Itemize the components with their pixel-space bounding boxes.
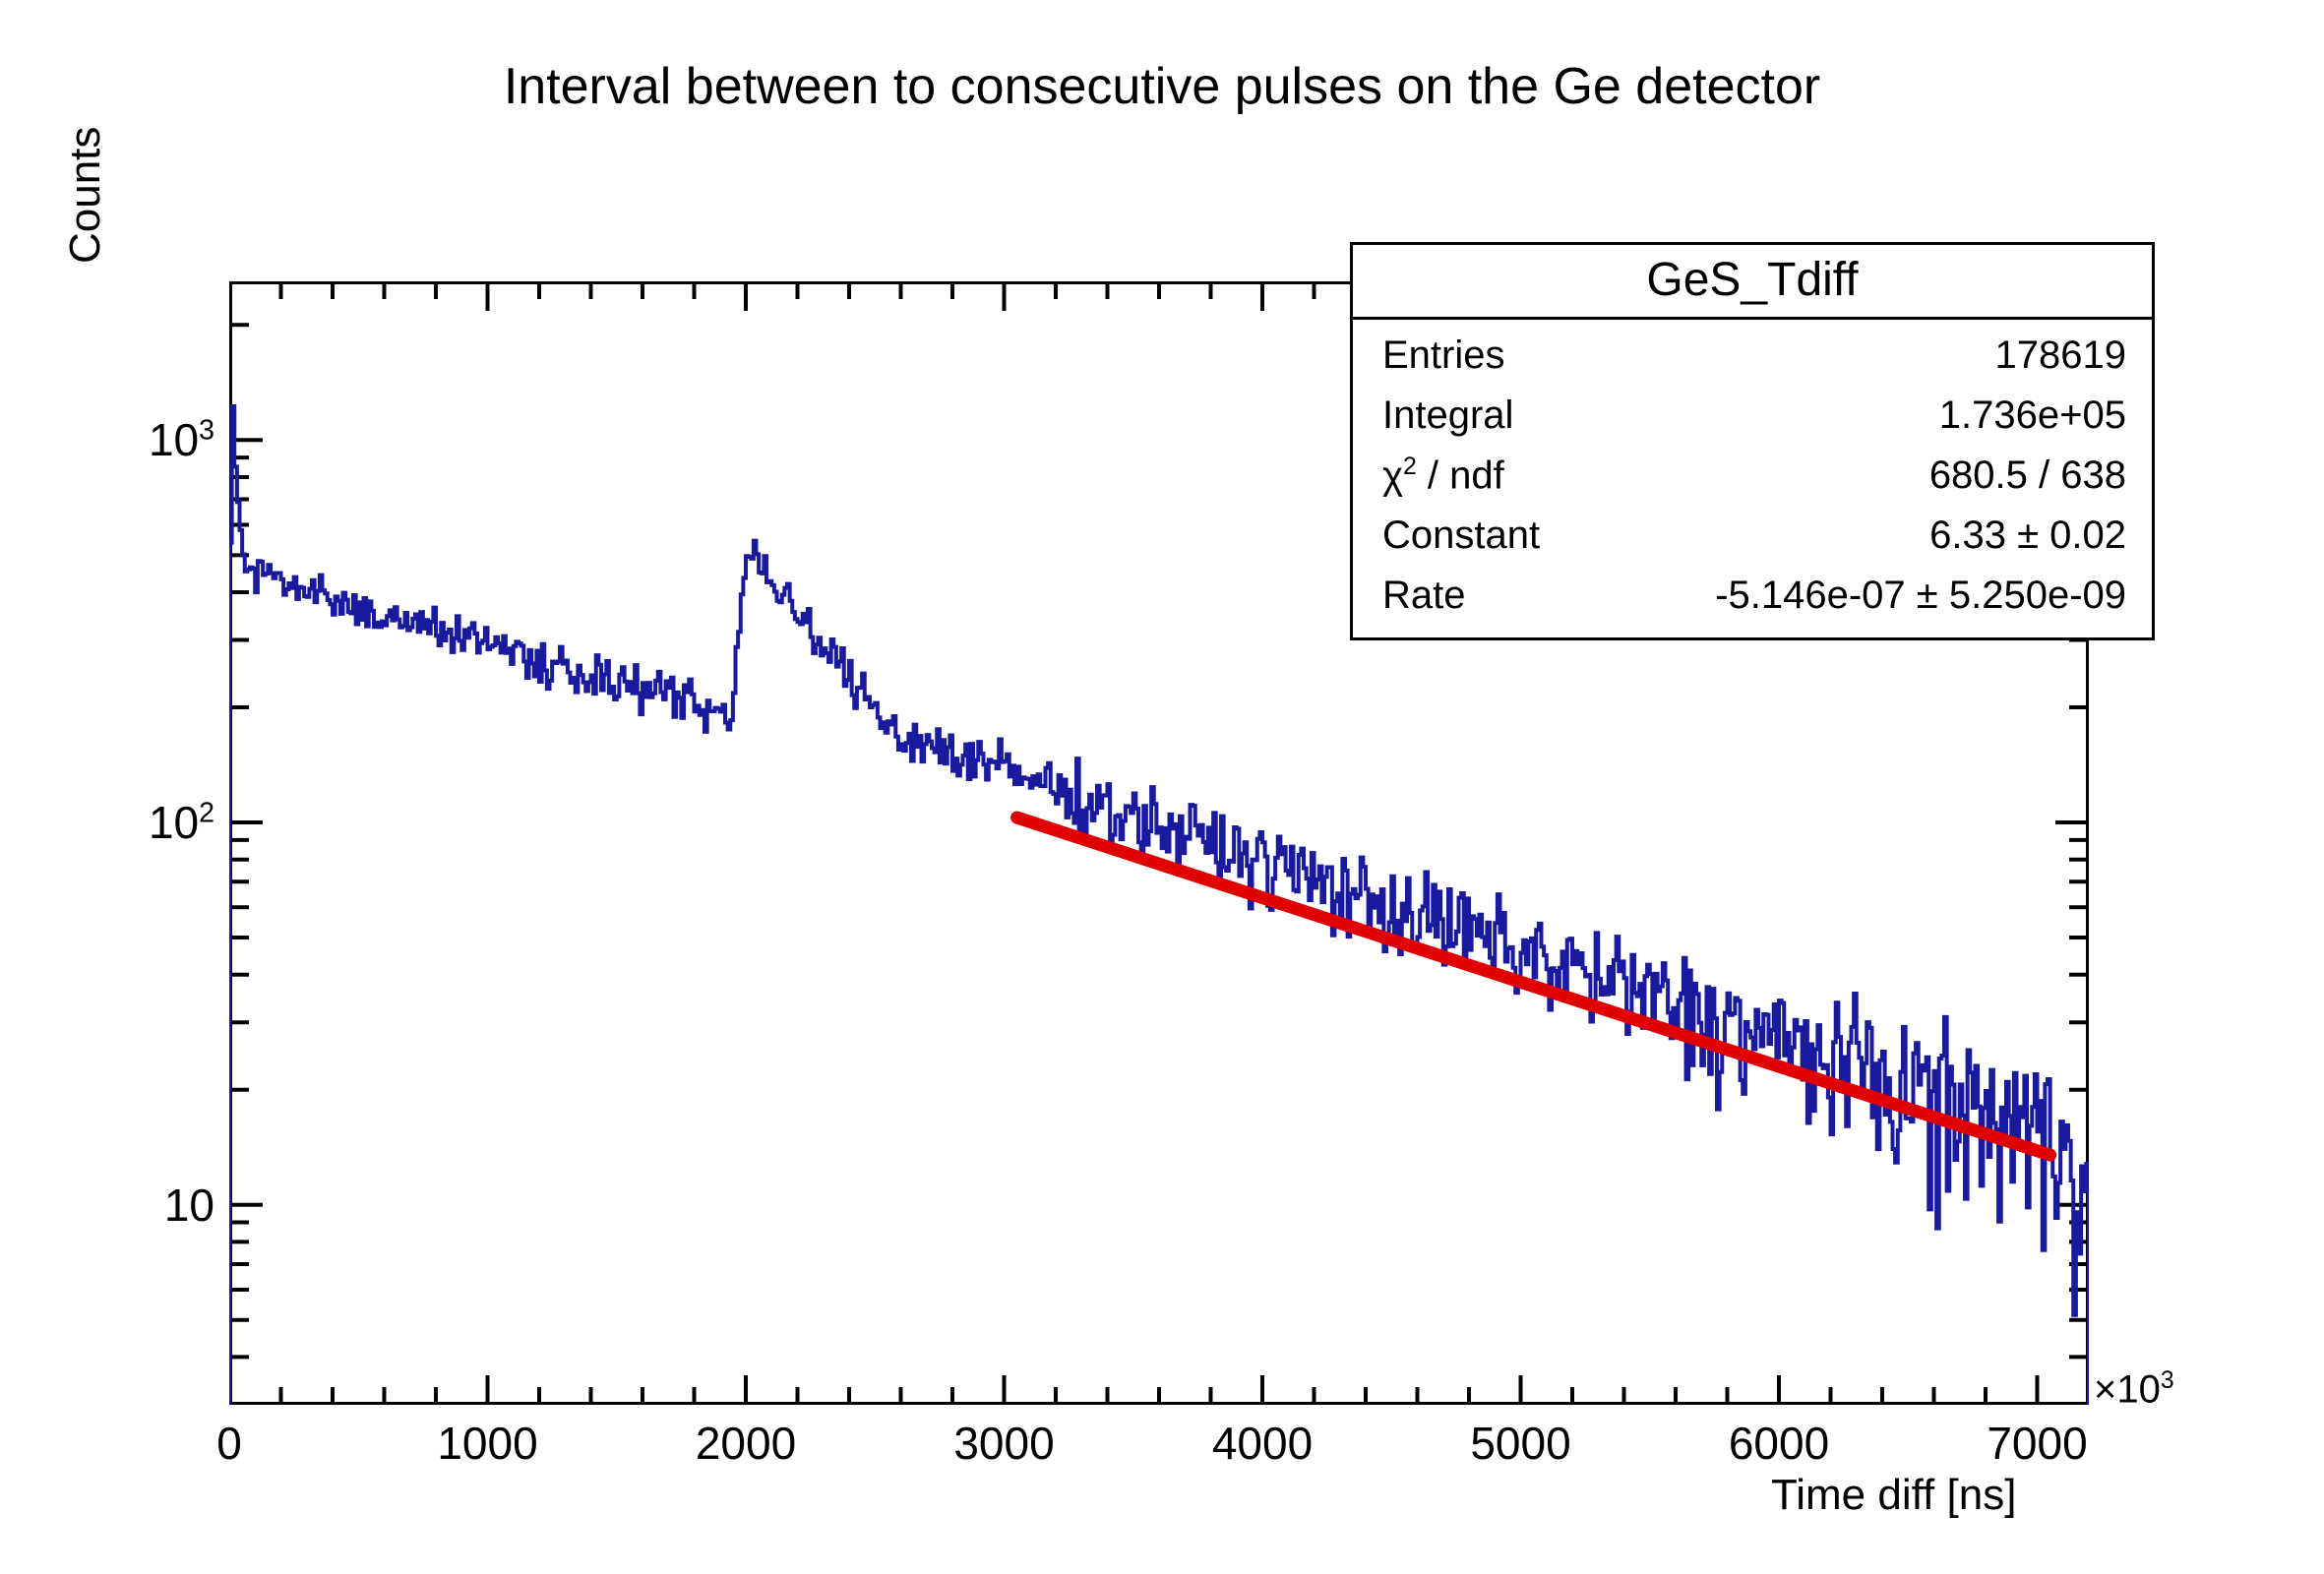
x-axis-title: Time diff [ns]	[1771, 1471, 2016, 1520]
y-axis-tick-label: 10	[108, 1179, 214, 1232]
x-axis-exponent-label: ×103	[2094, 1367, 2174, 1412]
exponential-fit-line	[1017, 817, 2050, 1155]
x-exponent-power: 3	[2161, 1367, 2174, 1394]
x-axis-tick-label: 3000	[953, 1417, 1054, 1470]
stat-row-label: χ2 / ndf	[1382, 454, 1504, 498]
x-axis-tick-label: 1000	[437, 1417, 537, 1470]
stat-box-title: GeS_Tdiff	[1353, 245, 2152, 320]
y-axis-title: Counts	[61, 127, 110, 264]
stat-row-label: Integral	[1382, 393, 1513, 438]
stat-box-rows: Entries178619Integral1.736e+05χ2 / ndf68…	[1353, 320, 2152, 637]
stat-row-value: 1.736e+05	[1939, 393, 2126, 438]
stat-row-value: 6.33 ± 0.02	[1929, 514, 2126, 558]
statistics-box[interactable]: GeS_Tdiff Entries178619Integral1.736e+05…	[1350, 242, 2155, 640]
stat-row-label: Entries	[1382, 333, 1505, 378]
stat-row-label: Rate	[1382, 574, 1466, 618]
stat-row: Constant6.33 ± 0.02	[1353, 506, 2152, 566]
stat-row: Entries178619	[1353, 326, 2152, 386]
stat-row: Integral1.736e+05	[1353, 386, 2152, 446]
stat-row-label: Constant	[1382, 514, 1540, 558]
page-title: Interval between to consecutive pulses o…	[0, 57, 2324, 116]
x-axis-tick-label: 6000	[1729, 1417, 1829, 1470]
y-axis-tick-label: 102	[108, 796, 214, 849]
x-axis-tick-label: 0	[216, 1417, 242, 1470]
stat-row: Rate-5.146e-07 ± 5.250e-09	[1353, 566, 2152, 626]
x-axis-tick-label: 2000	[696, 1417, 796, 1470]
stat-row-value: -5.146e-07 ± 5.250e-09	[1715, 574, 2126, 618]
root-canvas-plot: Interval between to consecutive pulses o…	[0, 0, 2324, 1574]
stat-row-value: 178619	[1995, 333, 2126, 378]
x-axis-tick-label: 4000	[1212, 1417, 1313, 1470]
y-axis-tick-label: 103	[108, 413, 214, 466]
stat-row: χ2 / ndf680.5 / 638	[1353, 446, 2152, 506]
x-exponent-prefix: ×10	[2094, 1367, 2161, 1411]
x-axis-tick-label: 7000	[1987, 1417, 2087, 1470]
stat-row-value: 680.5 / 638	[1929, 454, 2126, 498]
x-axis-tick-label: 5000	[1470, 1417, 1570, 1470]
